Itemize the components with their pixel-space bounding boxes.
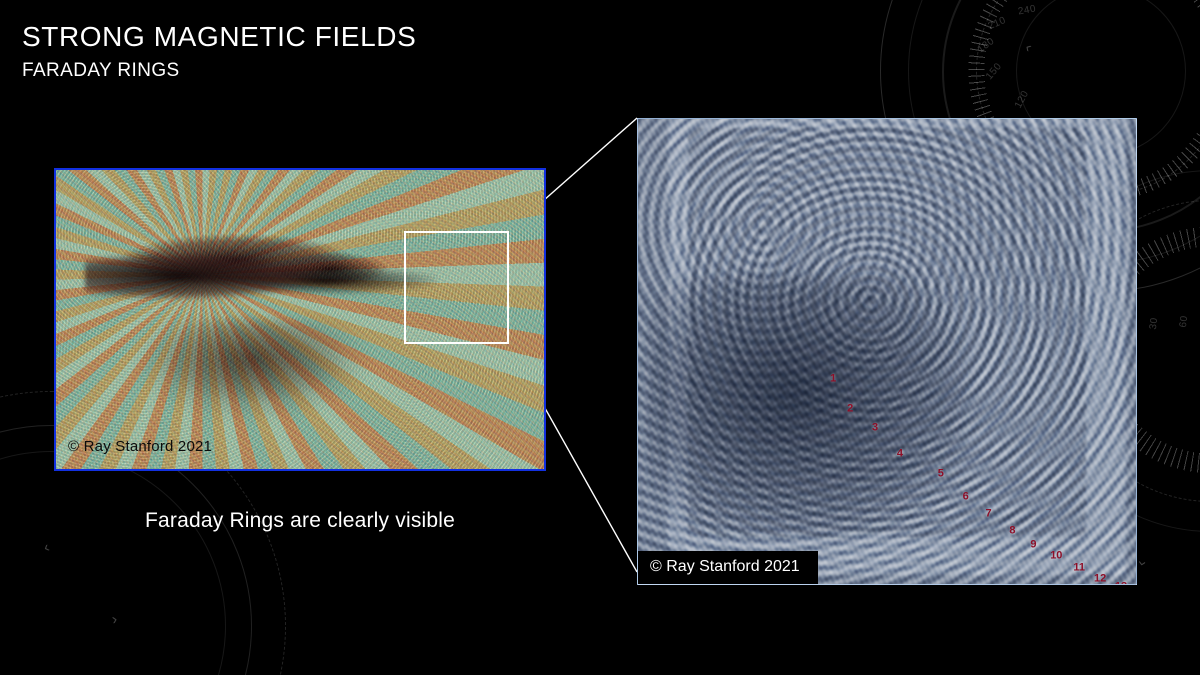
ring-label-7: 7 — [986, 509, 992, 520]
dial-number-180: 180 — [976, 36, 997, 56]
ring-label-12: 12 — [1094, 574, 1106, 585]
dark-object-shape — [85, 242, 436, 308]
ring-label-9: 9 — [1030, 539, 1036, 550]
ring-label-4: 4 — [897, 448, 903, 459]
caption-faraday-rings: Faraday Rings are clearly visible — [54, 509, 546, 533]
ring-label-2: 2 — [847, 403, 853, 414]
dial-number-210: 210 — [987, 15, 1008, 32]
dial-number-150: 150 — [984, 61, 1004, 82]
zoom-region-box[interactable] — [404, 231, 509, 344]
ring-label-5: 5 — [938, 469, 944, 480]
dial-number-240: 240 — [1017, 4, 1037, 18]
chevron-icon-bottom-left-b: › — [110, 612, 118, 628]
chevron-icon-bottom-right: › — [1135, 560, 1151, 568]
ring-label-1: 1 — [830, 373, 836, 384]
slide-canvas: 120 150 180 210 240 ‹ 30 60 ‹ › › STRONG… — [0, 0, 1200, 675]
chevron-icon-bottom-left-a: ‹ — [41, 540, 51, 556]
ring-label-3: 3 — [872, 422, 878, 433]
copyright-right: © Ray Stanford 2021 — [638, 551, 818, 584]
dial-number-30: 30 — [1148, 317, 1161, 331]
dial-number-60: 60 — [1178, 315, 1191, 329]
page-title: STRONG MAGNETIC FIELDS — [22, 22, 416, 53]
copyright-left: © Ray Stanford 2021 — [68, 438, 212, 455]
dial-number-120: 120 — [1013, 89, 1031, 110]
zoom-speckle-texture — [638, 119, 1136, 584]
ring-label-10: 10 — [1050, 551, 1062, 562]
ring-label-11: 11 — [1073, 563, 1085, 574]
ring-label-6: 6 — [963, 491, 969, 502]
dial-bl-ring-mid — [0, 451, 226, 675]
title-block: STRONG MAGNETIC FIELDS FARADAY RINGS — [22, 22, 416, 82]
page-subtitle: FARADAY RINGS — [22, 60, 416, 82]
dark-shadow-region — [134, 320, 368, 422]
ring-label-13: 13 — [1115, 581, 1127, 585]
chevron-icon-top-right: ‹ — [1022, 40, 1034, 55]
ring-label-8: 8 — [1009, 526, 1015, 537]
zoomed-photo[interactable]: 12345678910111213 © Ray Stanford 2021 — [637, 118, 1137, 585]
